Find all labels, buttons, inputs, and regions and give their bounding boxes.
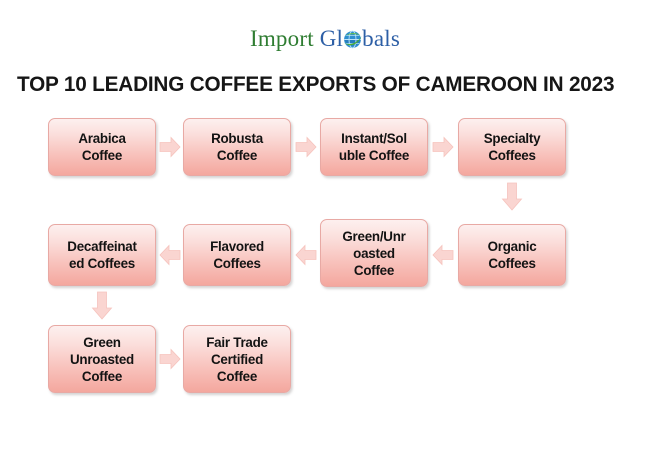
flow-node-organic-coffees[interactable]: Organic Coffees: [458, 224, 566, 286]
brand-logo: Import Gl bals: [0, 26, 650, 52]
flow-node-label: Instant/Sol uble Coffee: [324, 130, 424, 164]
flow-node-arabica-coffee[interactable]: Arabica Coffee: [48, 118, 156, 176]
flow-node-robusta-coffee[interactable]: Robusta Coffee: [183, 118, 291, 176]
brand-name-bals: bals: [362, 26, 400, 51]
arrow-left-organic-to-green-unroasted: [432, 244, 454, 266]
flow-node-label: Flavored Coffees: [187, 238, 287, 272]
globe-icon: [343, 30, 362, 49]
arrow-right-robusta-to-instant: [295, 136, 317, 158]
flow-node-label: Green Unroasted Coffee: [52, 334, 152, 385]
arrow-right-instant-to-specialty: [432, 136, 454, 158]
arrow-right-green-unroasted-to-fair-trade: [159, 348, 181, 370]
flow-node-decaffeinated-coffees[interactable]: Decaffeinat ed Coffees: [48, 224, 156, 286]
brand-name-import: Import: [250, 26, 314, 51]
flow-node-label: Decaffeinat ed Coffees: [52, 238, 152, 272]
flow-node-label: Fair Trade Certified Coffee: [187, 334, 287, 385]
flow-node-label: Specialty Coffees: [462, 130, 562, 164]
flow-node-label: Arabica Coffee: [52, 130, 152, 164]
brand-name-gl: Gl: [320, 26, 343, 51]
flow-node-label: Robusta Coffee: [187, 130, 287, 164]
flow-node-specialty-coffees[interactable]: Specialty Coffees: [458, 118, 566, 176]
arrow-down-decaffeinated-to-green-unroasted: [91, 291, 113, 321]
flow-node-green-unroasted-coffee-a[interactable]: Green/Unr oasted Coffee: [320, 219, 428, 287]
flow-node-label: Green/Unr oasted Coffee: [324, 228, 424, 279]
page-title: TOP 10 LEADING COFFEE EXPORTS OF CAMEROO…: [17, 72, 611, 97]
arrow-left-flavored-to-decaffeinated: [159, 244, 181, 266]
arrow-right-arabica-to-robusta: [159, 136, 181, 158]
flow-node-flavored-coffees[interactable]: Flavored Coffees: [183, 224, 291, 286]
arrow-left-green-unroasted-to-flavored: [295, 244, 317, 266]
flow-node-green-unroasted-coffee-b[interactable]: Green Unroasted Coffee: [48, 325, 156, 393]
flow-node-instant-soluble-coffee[interactable]: Instant/Sol uble Coffee: [320, 118, 428, 176]
arrow-down-specialty-to-organic: [501, 182, 523, 212]
diagram-canvas: Import Gl bals TOP 10 LEADING COFFEE EXP…: [0, 0, 650, 450]
flow-node-label: Organic Coffees: [462, 238, 562, 272]
flow-node-fair-trade-certified-coffee[interactable]: Fair Trade Certified Coffee: [183, 325, 291, 393]
